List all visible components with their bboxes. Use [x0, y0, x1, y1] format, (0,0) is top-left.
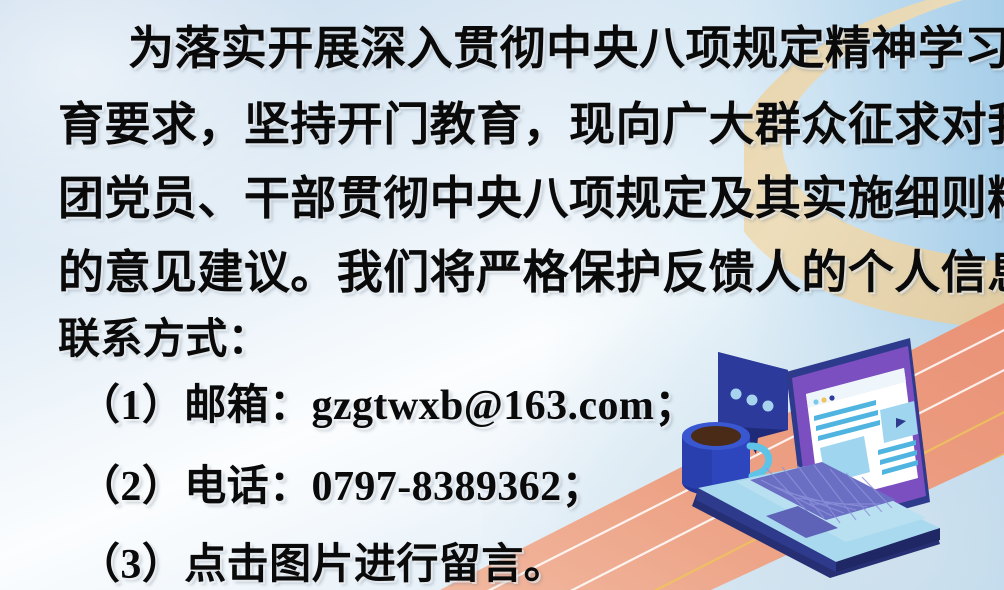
contact-item-email[interactable]: （1）邮箱：gzgtwxb@163.com； — [78, 371, 697, 432]
contact-item-phone[interactable]: （2）电话：0797-8389362； — [78, 452, 604, 513]
contact-heading: 联系方式： — [58, 305, 270, 366]
paragraph-line-2: 育要求，坚持开门教育，现向广大群众征求对我集 — [58, 88, 1004, 154]
paragraph-line-1: 为落实开展深入贯彻中央八项规定精神学习教 — [128, 12, 1004, 78]
poster-copy: 为落实开展深入贯彻中央八项规定精神学习教 育要求，坚持开门教育，现向广大群众征求… — [0, 0, 1004, 590]
poster-canvas: 为落实开展深入贯彻中央八项规定精神学习教 育要求，坚持开门教育，现向广大群众征求… — [0, 0, 1004, 590]
paragraph-line-4: 的意见建议。我们将严格保护反馈人的个人信息。 — [58, 236, 1004, 302]
contact-item-click-image: （3）点击图片进行留言。 — [78, 530, 566, 590]
paragraph-line-3: 团党员、干部贯彻中央八项规定及其实施细则精神 — [58, 162, 1004, 228]
